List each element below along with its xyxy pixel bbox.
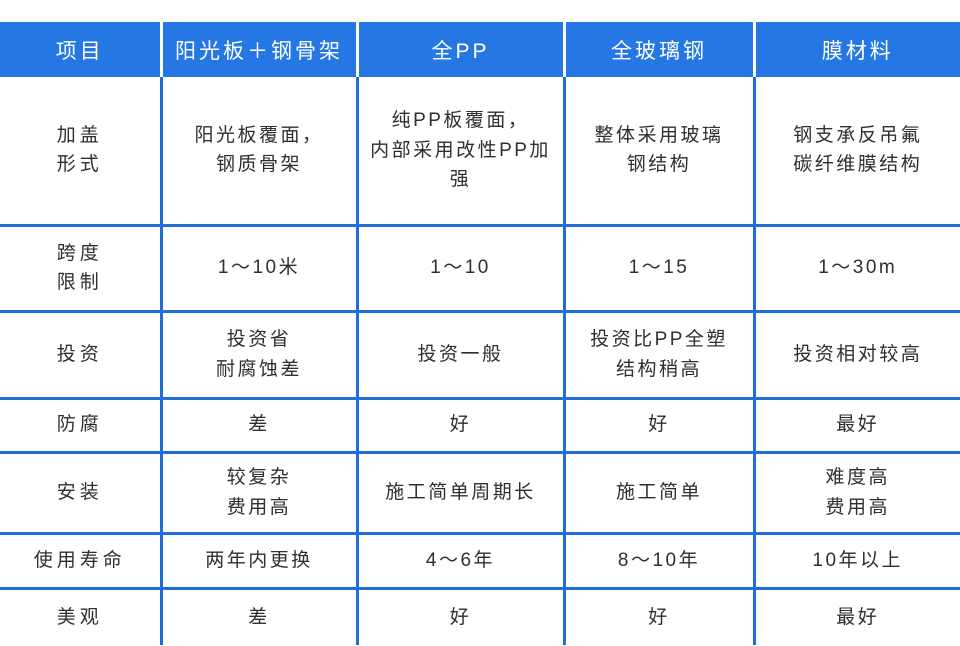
table-cell: 投资相对较高 (754, 311, 960, 398)
cell-line: 碳纤维膜结构 (764, 150, 953, 179)
cell-line: 好 (574, 603, 745, 632)
table-cell: 投资一般 (357, 311, 564, 398)
cell-line: 两年内更换 (171, 546, 348, 575)
row-label: 投资 (0, 311, 161, 398)
cell-line: 防腐 (8, 410, 152, 439)
cell-line: 结构稍高 (574, 355, 745, 384)
cell-line: 整体采用玻璃 (574, 121, 745, 150)
cell-line: 美观 (8, 603, 152, 632)
row-label: 美观 (0, 588, 161, 645)
table-body: 加盖形式 阳光板覆面，钢质骨架 纯PP板覆面，内部采用改性PP加强 整体采用玻璃… (0, 77, 960, 645)
cell-line: 投资 (8, 340, 152, 369)
table-cell: 投资比PP全塑结构稍高 (564, 311, 754, 398)
table-cell: 1～10米 (161, 225, 357, 311)
table-cell: 好 (357, 398, 564, 452)
cell-line: 跨度 (8, 239, 152, 268)
cell-line: 1～15 (574, 253, 745, 282)
column-header-sunboard-steel: 阳光板＋钢骨架 (161, 22, 357, 77)
cell-line: 好 (367, 410, 555, 439)
table-cell: 施工简单 (564, 452, 754, 533)
cell-line: 差 (171, 603, 348, 632)
table-cell: 好 (357, 588, 564, 645)
cell-line: 钢结构 (574, 150, 745, 179)
cell-line: 1～10 (367, 253, 555, 282)
column-header-item: 项目 (0, 22, 161, 77)
table-row: 投资 投资省耐腐蚀差 投资一般 投资比PP全塑结构稍高 投资相对较高 (0, 311, 960, 398)
table-cell: 难度高费用高 (754, 452, 960, 533)
cell-line: 投资比PP全塑 (574, 325, 745, 354)
table-row: 安装 较复杂费用高 施工简单周期长 施工简单 难度高费用高 (0, 452, 960, 533)
table-cell: 1～30m (754, 225, 960, 311)
table-header: 项目 阳光板＋钢骨架 全PP 全玻璃钢 膜材料 (0, 22, 960, 77)
table-cell: 好 (564, 398, 754, 452)
cell-line: 差 (171, 410, 348, 439)
table-cell: 阳光板覆面，钢质骨架 (161, 77, 357, 225)
cell-line: 1～10米 (171, 253, 348, 282)
column-header-full-pp: 全PP (357, 22, 564, 77)
cell-line: 费用高 (764, 493, 953, 522)
cell-line: 耐腐蚀差 (171, 355, 348, 384)
cell-line: 投资一般 (367, 340, 555, 369)
material-comparison-table: 项目 阳光板＋钢骨架 全PP 全玻璃钢 膜材料 加盖形式 阳光板覆面，钢质骨架 … (0, 22, 960, 645)
cell-line: 施工简单 (574, 478, 745, 507)
cell-line: 4～6年 (367, 546, 555, 575)
comparison-table-container: 项目 阳光板＋钢骨架 全PP 全玻璃钢 膜材料 加盖形式 阳光板覆面，钢质骨架 … (0, 0, 960, 646)
cell-line: 钢支承反吊氟 (764, 121, 953, 150)
row-label: 安装 (0, 452, 161, 533)
table-cell: 1～10 (357, 225, 564, 311)
table-cell: 两年内更换 (161, 533, 357, 588)
table-row: 美观 差 好 好 最好 (0, 588, 960, 645)
cell-line: 8～10年 (574, 546, 745, 575)
cell-line: 安装 (8, 478, 152, 507)
table-cell: 10年以上 (754, 533, 960, 588)
cell-line: 10年以上 (764, 546, 953, 575)
cell-line: 形式 (8, 150, 152, 179)
column-header-membrane: 膜材料 (754, 22, 960, 77)
cell-line: 最好 (764, 410, 953, 439)
table-row: 使用寿命 两年内更换 4～6年 8～10年 10年以上 (0, 533, 960, 588)
cell-line: 投资省 (171, 325, 348, 354)
cell-line: 加盖 (8, 121, 152, 150)
cell-line: 内部采用改性PP加强 (367, 136, 555, 195)
row-label: 使用寿命 (0, 533, 161, 588)
cell-line: 较复杂 (171, 463, 348, 492)
table-cell: 1～15 (564, 225, 754, 311)
cell-line: 纯PP板覆面， (367, 106, 555, 135)
row-label: 跨度限制 (0, 225, 161, 311)
cell-line: 最好 (764, 603, 953, 632)
cell-line: 限制 (8, 268, 152, 297)
table-cell: 好 (564, 588, 754, 645)
cell-line: 难度高 (764, 463, 953, 492)
table-cell: 最好 (754, 398, 960, 452)
table-cell: 整体采用玻璃钢结构 (564, 77, 754, 225)
table-cell: 4～6年 (357, 533, 564, 588)
column-header-frp: 全玻璃钢 (564, 22, 754, 77)
table-row: 加盖形式 阳光板覆面，钢质骨架 纯PP板覆面，内部采用改性PP加强 整体采用玻璃… (0, 77, 960, 225)
cell-line: 投资相对较高 (764, 340, 953, 369)
row-label: 防腐 (0, 398, 161, 452)
cell-line: 施工简单周期长 (367, 478, 555, 507)
table-cell: 较复杂费用高 (161, 452, 357, 533)
row-label: 加盖形式 (0, 77, 161, 225)
table-cell: 施工简单周期长 (357, 452, 564, 533)
table-cell: 8～10年 (564, 533, 754, 588)
cell-line: 钢质骨架 (171, 150, 348, 179)
table-row: 跨度限制 1～10米 1～10 1～15 1～30m (0, 225, 960, 311)
table-cell: 钢支承反吊氟碳纤维膜结构 (754, 77, 960, 225)
cell-line: 使用寿命 (8, 546, 152, 575)
cell-line: 好 (367, 603, 555, 632)
cell-line: 好 (574, 410, 745, 439)
table-row: 防腐 差 好 好 最好 (0, 398, 960, 452)
table-cell: 纯PP板覆面，内部采用改性PP加强 (357, 77, 564, 225)
table-cell: 差 (161, 588, 357, 645)
cell-line: 1～30m (764, 253, 953, 282)
cell-line: 阳光板覆面， (171, 121, 348, 150)
table-cell: 投资省耐腐蚀差 (161, 311, 357, 398)
table-header-row: 项目 阳光板＋钢骨架 全PP 全玻璃钢 膜材料 (0, 22, 960, 77)
cell-line: 费用高 (171, 493, 348, 522)
table-cell: 最好 (754, 588, 960, 645)
table-cell: 差 (161, 398, 357, 452)
